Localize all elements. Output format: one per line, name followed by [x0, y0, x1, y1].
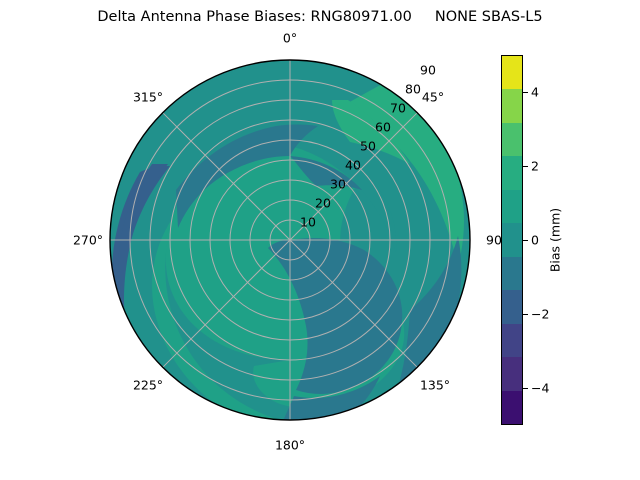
r-tick-80: 80 [405, 82, 421, 97]
colorbar-band-0 [502, 56, 522, 89]
colorbar-band-9 [502, 357, 522, 390]
theta-tick-315: 315° [133, 90, 163, 105]
colorbar-band-10 [502, 391, 522, 424]
theta-tick-270: 270° [73, 233, 103, 248]
colorbar-tick-label-neg4: −4 [531, 381, 549, 396]
theta-tick-0: 0° [283, 31, 297, 46]
colorbar-tick-mark-4 [523, 92, 528, 93]
polar-plot-svg [110, 60, 470, 420]
r-tick-30: 30 [330, 177, 346, 192]
r-tick-70: 70 [390, 101, 406, 116]
r-tick-10: 10 [300, 215, 316, 230]
theta-tick-90: 90 [486, 233, 502, 248]
colorbar-tick-label-2: 2 [531, 159, 539, 174]
colorbar: 4 2 0 −2 −4 [501, 55, 523, 425]
colorbar-band-1 [502, 89, 522, 122]
colorbar-tick-mark-2 [523, 166, 528, 167]
theta-tick-180: 180° [275, 438, 305, 453]
colorbar-tick-label-4: 4 [531, 85, 539, 100]
colorbar-tick-label-neg2: −2 [531, 307, 549, 322]
colorbar-axis-label: Bias (mm) [548, 208, 563, 272]
colorbar-band-6 [502, 257, 522, 290]
r-tick-50: 50 [360, 139, 376, 154]
polar-axes: 0° 45° 90 135° 180° 225° 270° 315° 10 20… [110, 60, 470, 420]
colorbar-band-5 [502, 223, 522, 256]
colorbar-tick-label-0: 0 [531, 233, 539, 248]
theta-tick-225: 225° [133, 378, 163, 393]
r-tick-40: 40 [345, 158, 361, 173]
theta-tick-45: 45° [422, 90, 444, 105]
colorbar-band-4 [502, 190, 522, 223]
r-tick-60: 60 [375, 120, 391, 135]
colorbar-tick-mark-0 [523, 240, 528, 241]
theta-tick-135: 135° [420, 378, 450, 393]
r-tick-90: 90 [420, 63, 436, 78]
chart-title: Delta Antenna Phase Biases: RNG80971.00 … [0, 9, 640, 25]
colorbar-tick-mark-neg2 [523, 314, 528, 315]
colorbar-band-2 [502, 123, 522, 156]
colorbar-tick-mark-neg4 [523, 388, 528, 389]
colorbar-band-3 [502, 156, 522, 189]
colorbar-gradient [501, 55, 523, 425]
r-tick-20: 20 [315, 196, 331, 211]
figure-canvas: Delta Antenna Phase Biases: RNG80971.00 … [0, 0, 640, 480]
polar-grid-spokes [110, 60, 470, 420]
colorbar-band-8 [502, 324, 522, 357]
colorbar-band-7 [502, 290, 522, 323]
